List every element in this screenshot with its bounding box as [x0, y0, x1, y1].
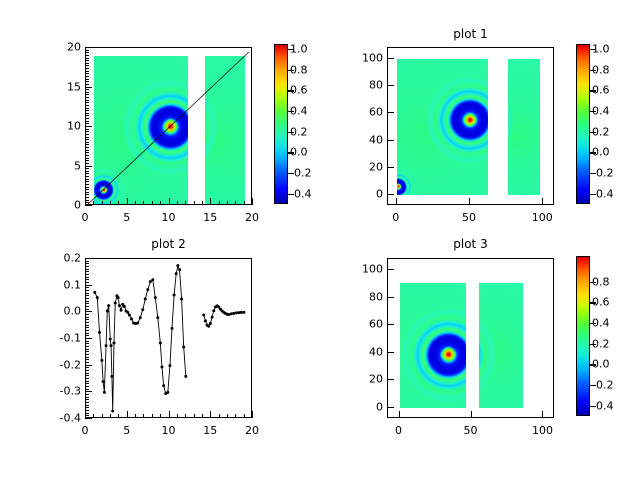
colorbar-bottom-right [576, 256, 590, 416]
y-major-tick [387, 379, 394, 380]
y-tick-label: 40 [351, 345, 383, 358]
heat-halo [479, 283, 524, 408]
y-major-tick [387, 269, 394, 270]
x-major-tick [399, 411, 400, 418]
colorbar-tick-label: 0.8 [592, 275, 610, 288]
y-major-tick [387, 407, 394, 408]
heat-source [479, 308, 496, 402]
panel-bottom-right: plot 3050100020406080100-0.4-0.20.00.20.… [0, 0, 640, 480]
heat-halo [400, 283, 466, 408]
heat-core [439, 345, 458, 364]
heat-block [479, 283, 524, 408]
y-tick-label: 60 [351, 318, 383, 331]
heat-block [400, 283, 466, 408]
y-tick-label: 20 [351, 373, 383, 386]
y-tick-label: 80 [351, 290, 383, 303]
colorbar-tick-label: 0.4 [592, 317, 610, 330]
y-tick-label: 0 [351, 400, 383, 413]
colorbar-tick-label: 0.0 [592, 358, 610, 371]
axes-bottom-right [387, 258, 554, 418]
x-major-tick [471, 411, 472, 418]
y-major-tick [387, 297, 394, 298]
y-major-tick [387, 324, 394, 325]
x-tick-label: 50 [464, 424, 478, 437]
colorbar-tick-label: -0.2 [592, 379, 613, 392]
y-major-tick [387, 352, 394, 353]
colorbar-tick-label: -0.4 [592, 399, 613, 412]
colorbar-tick-label: 0.2 [592, 337, 610, 350]
plot-title-bottom-right: plot 3 [387, 237, 554, 251]
figure-canvas: 0510152005101520-0.4-0.20.00.20.40.60.81… [0, 0, 640, 480]
x-tick-label: 0 [395, 424, 402, 437]
x-tick-label: 100 [532, 424, 553, 437]
colorbar-tick-label: 0.6 [592, 296, 610, 309]
heat-source [402, 308, 466, 402]
y-tick-label: 100 [351, 263, 383, 276]
x-major-tick [542, 411, 543, 418]
